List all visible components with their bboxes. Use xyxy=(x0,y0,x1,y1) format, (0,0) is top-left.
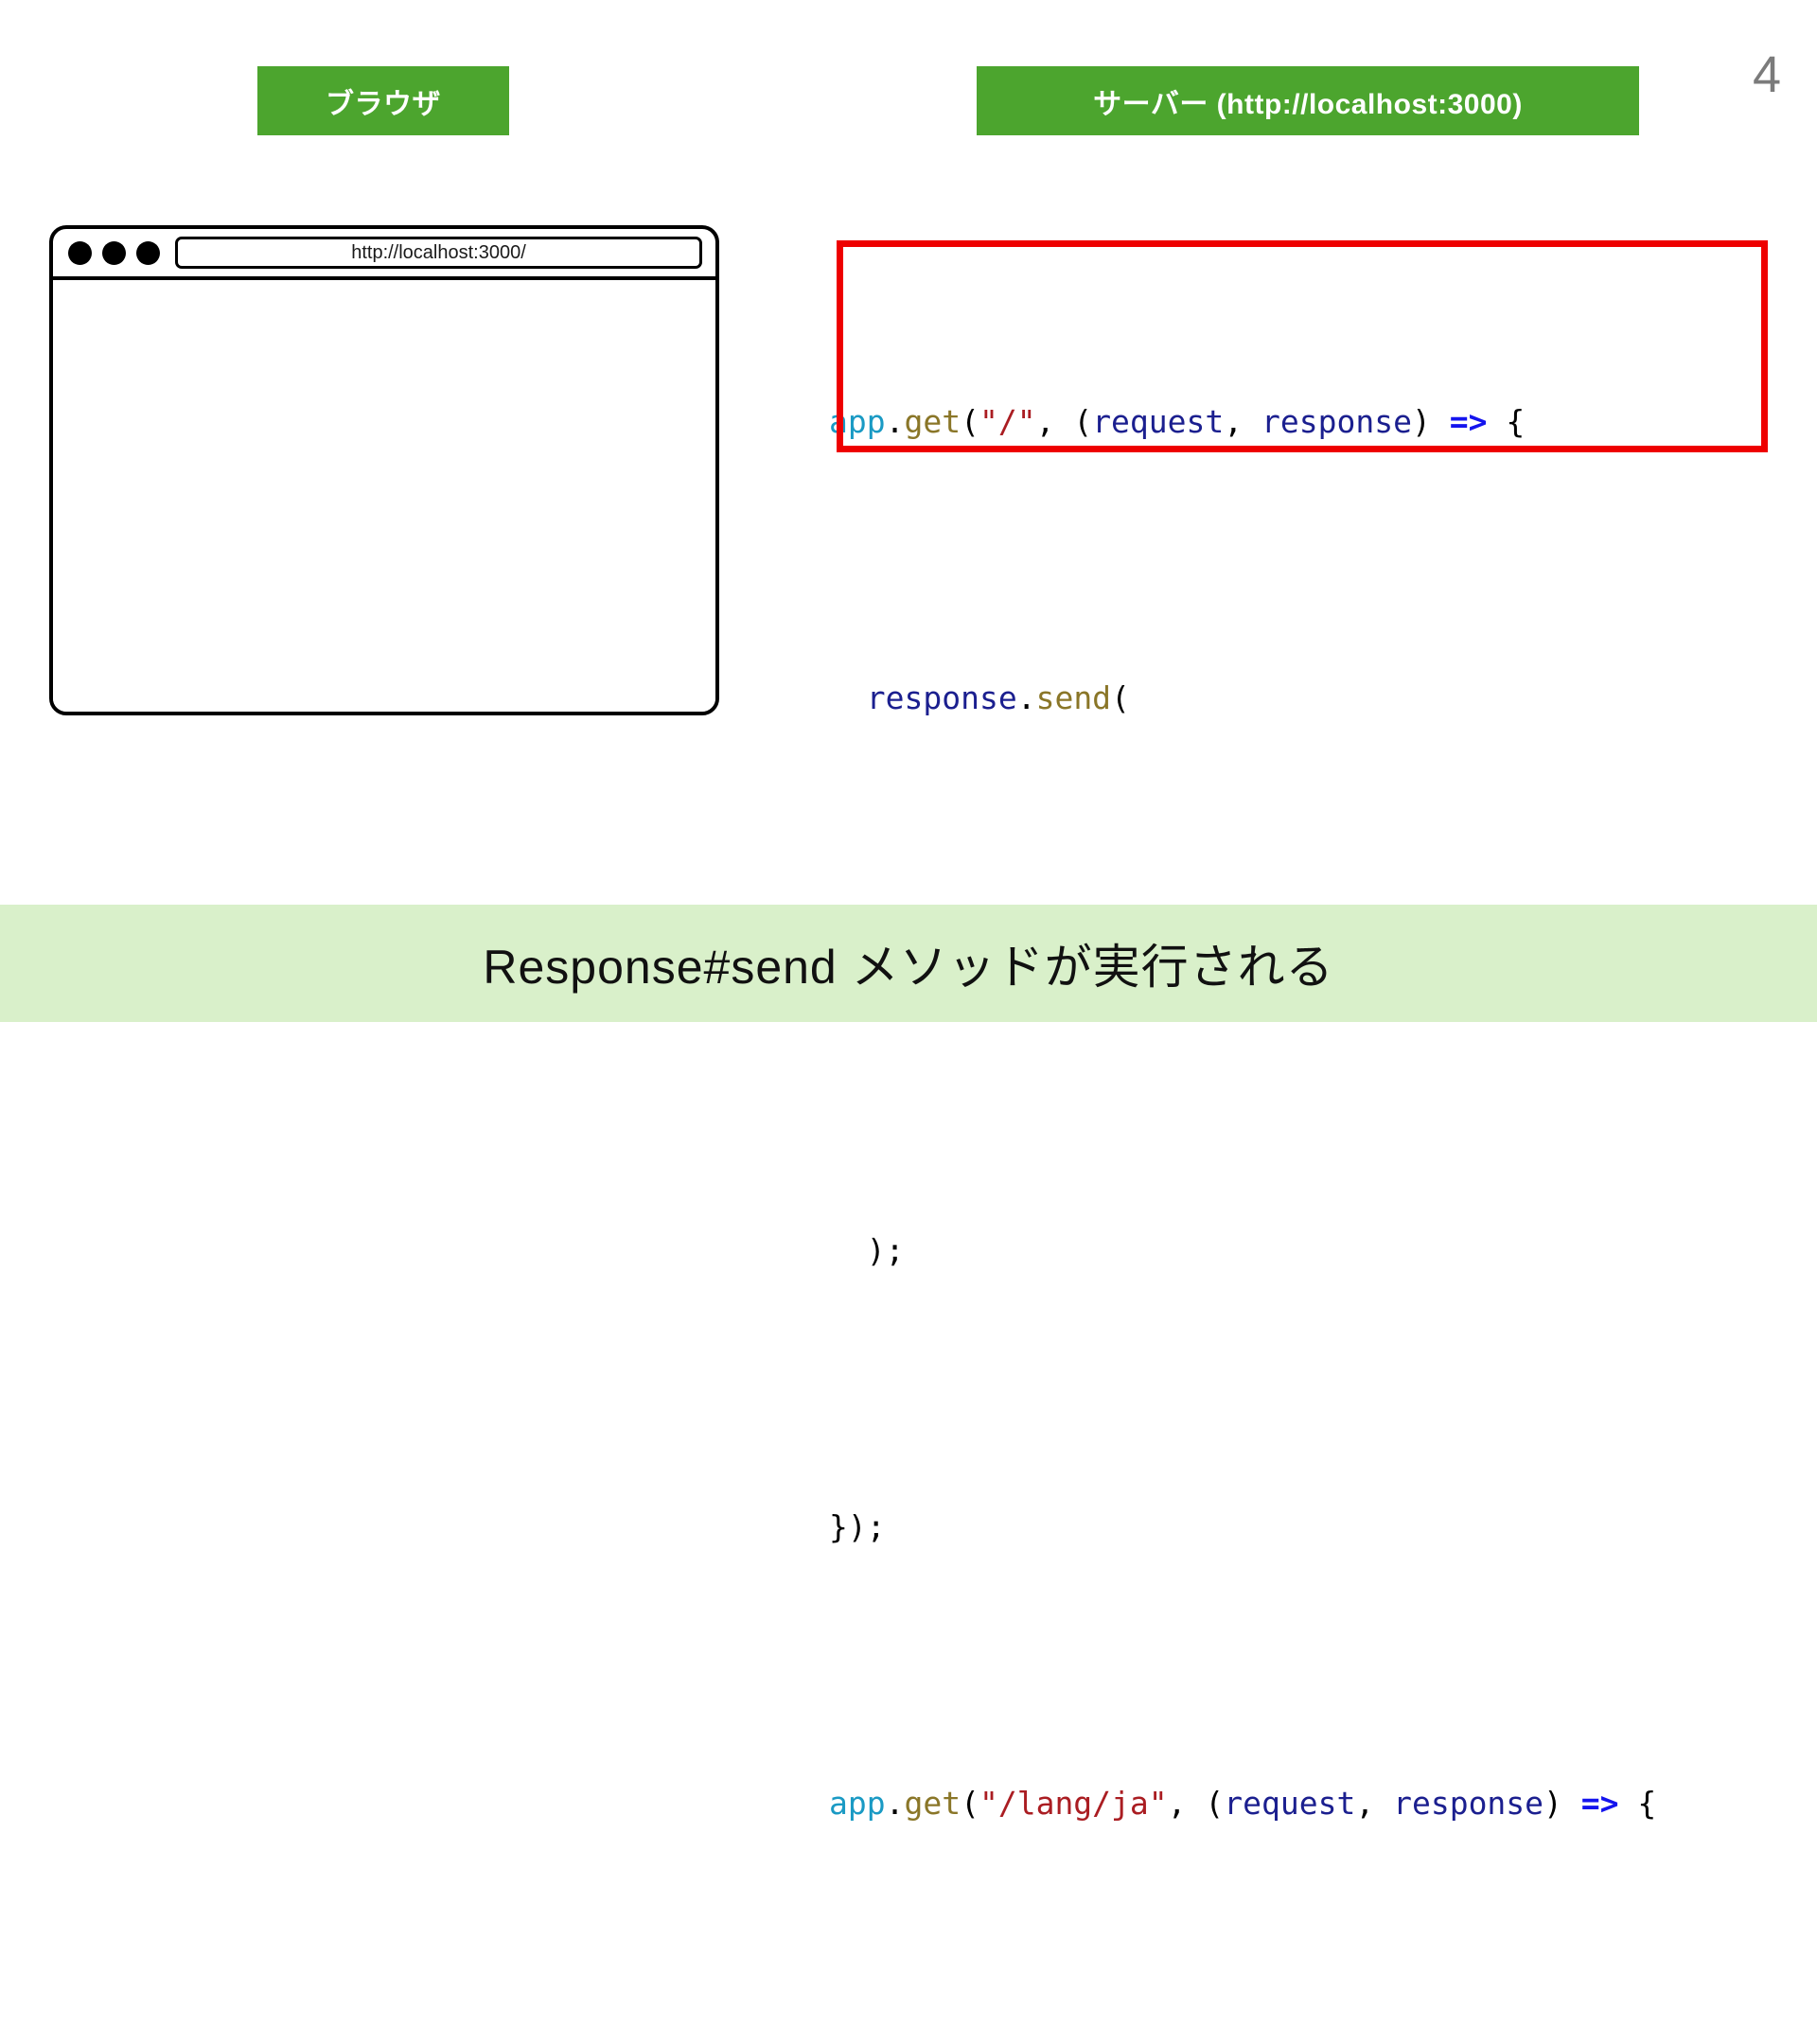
code-token-app: app xyxy=(829,403,886,440)
code-token-paren: ( xyxy=(961,1785,979,1822)
code-token-close-handler: }); xyxy=(829,1508,886,1545)
browser-mock-window: http://localhost:3000/ xyxy=(49,225,719,715)
code-token-paren: ( xyxy=(961,403,979,440)
code-token-request: request xyxy=(1092,403,1224,440)
code-token-sep: , xyxy=(1355,1785,1393,1822)
code-indent xyxy=(829,679,867,716)
browser-column-header-label: ブラウザ xyxy=(326,80,441,122)
server-column-header-label: サーバー (http://localhost:3000) xyxy=(1093,80,1523,122)
code-token-close: ) xyxy=(1412,403,1450,440)
code-token-send: send xyxy=(1036,679,1111,716)
code-token-close: ) xyxy=(1544,1785,1581,1822)
code-indent xyxy=(829,1232,867,1269)
browser-column-header: ブラウザ xyxy=(257,66,509,135)
close-dot-icon[interactable] xyxy=(68,241,92,265)
code-token-route-path: "/lang/ja" xyxy=(979,1785,1168,1822)
server-column-header: サーバー (http://localhost:3000) xyxy=(977,66,1639,135)
browser-viewport xyxy=(53,280,715,712)
code-token-request: request xyxy=(1224,1785,1355,1822)
code-line-5: }); xyxy=(829,1492,1785,1561)
code-token-dot: . xyxy=(886,403,905,440)
code-token-arrow: => xyxy=(1581,1785,1619,1822)
code-token-response: response xyxy=(867,679,1017,716)
code-token-get: get xyxy=(904,403,961,440)
caption-text: Response#send メソッドが実行される xyxy=(483,929,1333,997)
code-token-app: app xyxy=(829,1785,886,1822)
address-bar[interactable]: http://localhost:3000/ xyxy=(175,237,702,269)
browser-titlebar: http://localhost:3000/ xyxy=(53,229,715,280)
code-token-paren: ( xyxy=(1111,679,1130,716)
code-line-6: app.get("/lang/ja", (request, response) … xyxy=(829,1769,1785,1838)
page-number: 4 xyxy=(1753,49,1781,100)
code-token-brace: { xyxy=(1619,1785,1657,1822)
minimize-dot-icon[interactable] xyxy=(102,241,126,265)
code-token-dot: . xyxy=(1017,679,1036,716)
window-control-dots xyxy=(68,241,160,265)
code-token-arrow: => xyxy=(1450,403,1488,440)
code-line-4: ); xyxy=(829,1216,1785,1285)
server-code-block: app.get("/", (request, response) => { re… xyxy=(829,180,1785,2044)
maximize-dot-icon[interactable] xyxy=(136,241,160,265)
code-token-get: get xyxy=(904,1785,961,1822)
code-line-2: response.send( xyxy=(829,663,1785,732)
code-token-brace: { xyxy=(1487,403,1525,440)
code-token-comma: , ( xyxy=(1036,403,1093,440)
code-token-dot: . xyxy=(886,1785,905,1822)
code-token-route-path: "/" xyxy=(979,403,1036,440)
code-token-response: response xyxy=(1261,403,1412,440)
code-token-close-call: ); xyxy=(867,1232,905,1269)
code-line-1: app.get("/", (request, response) => { xyxy=(829,387,1785,456)
caption-banner: Response#send メソッドが実行される xyxy=(0,905,1817,1022)
address-bar-url: http://localhost:3000/ xyxy=(351,242,526,264)
code-token-comma: , ( xyxy=(1168,1785,1225,1822)
code-token-sep: , xyxy=(1224,403,1261,440)
code-token-response: response xyxy=(1393,1785,1544,1822)
